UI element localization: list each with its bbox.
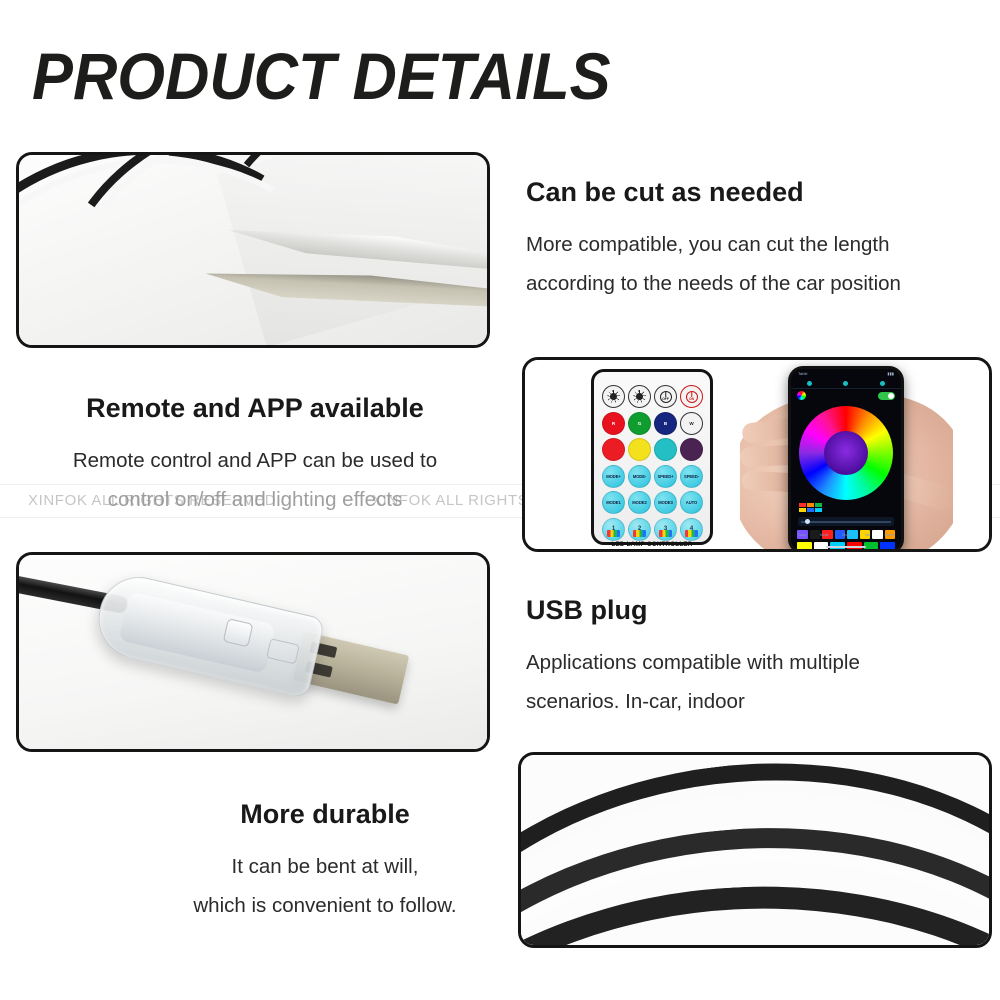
rgb-value-swatches xyxy=(799,503,825,512)
body-line-2-more-durable: which is convenient to follow. xyxy=(160,887,490,926)
brightness-down-icon xyxy=(633,390,646,403)
remote-button-mode-up-label: MODE+ xyxy=(606,474,621,479)
remote-button-power-on[interactable]: ON xyxy=(680,385,703,408)
usb-transparent-housing xyxy=(91,569,326,699)
remote-and-phone-app-photo: OFF ON R G B W xyxy=(525,360,989,549)
remote-button-speed-down[interactable]: SPEED- xyxy=(680,465,703,488)
body-line-1-more-durable: It can be bent at will, xyxy=(160,848,490,887)
body-line-2-usb-plug: scenarios. In-car, indoor xyxy=(526,683,976,722)
power-on-icon: ON xyxy=(686,391,698,403)
remote-button-speed-up-label: SPEED+ xyxy=(657,474,673,479)
preset-swatch-6[interactable] xyxy=(880,542,895,552)
usb-power-button xyxy=(223,618,254,647)
remote-button-mode2-label: MODE2 xyxy=(632,500,646,505)
rgb-swatch-r xyxy=(799,503,806,507)
remote-button-preset-4[interactable]: 4 xyxy=(680,518,703,541)
phone-status-bar: Tahiti ▮▮▮ xyxy=(791,369,901,378)
nav-item-music[interactable]: Music xyxy=(842,533,851,537)
remote-button-color-cyan[interactable] xyxy=(654,438,677,461)
ir-remote-control[interactable]: OFF ON R G B W xyxy=(591,369,713,545)
preset-swatch-1[interactable] xyxy=(797,542,812,552)
heading-more-durable: More durable xyxy=(160,798,490,830)
remote-button-color-purple[interactable] xyxy=(680,438,703,461)
remote-button-brightness-down[interactable] xyxy=(628,385,651,408)
rgb-swatch-c xyxy=(815,508,822,512)
product-details-page: PRODUCT DETAILS Can be cut as needed Mor… xyxy=(0,0,1000,1000)
rgb-color-wheel[interactable] xyxy=(799,406,893,500)
remote-button-preset-1[interactable]: 1 xyxy=(602,518,625,541)
hand-holding-phone: Tahiti ▮▮▮ xyxy=(740,360,953,552)
heading-cut-as-needed: Can be cut as needed xyxy=(526,176,976,208)
remote-button-preset-3[interactable]: 3 xyxy=(654,518,677,541)
nav-item-mode[interactable]: Mode xyxy=(820,533,828,537)
remote-button-grid: OFF ON R G B W xyxy=(602,385,702,541)
power-toggle[interactable] xyxy=(878,392,895,400)
remote-button-preset-1-label: 1 xyxy=(612,526,615,532)
remote-button-blue-label: B xyxy=(664,421,667,426)
remote-button-preset-2[interactable]: 2 xyxy=(628,518,651,541)
remote-button-power-off[interactable]: OFF xyxy=(654,385,677,408)
remote-button-white[interactable]: W xyxy=(680,412,703,435)
bent-led-strip-photo xyxy=(521,755,989,945)
brightness-slider[interactable] xyxy=(798,517,894,526)
page-title: PRODUCT DETAILS xyxy=(32,38,611,114)
remote-button-white-label: W xyxy=(689,421,693,426)
remote-button-mode3-label: MODE3 xyxy=(658,500,672,505)
power-off-label: OFF xyxy=(661,397,671,401)
remote-button-mode-up[interactable]: MODE+ xyxy=(602,465,625,488)
text-block-usb-plug: USB plug Applications compatible with mu… xyxy=(526,594,976,722)
remote-button-auto[interactable]: AUTO xyxy=(680,491,703,514)
remote-button-mode1-label: MODE1 xyxy=(606,500,620,505)
text-block-more-durable: More durable It can be bent at will, whi… xyxy=(160,798,490,926)
remote-button-mode1[interactable]: MODE1 xyxy=(602,491,625,514)
remote-button-color-red[interactable] xyxy=(602,438,625,461)
text-block-cut-as-needed: Can be cut as needed More compatible, yo… xyxy=(526,176,976,304)
nav-item-color[interactable]: Color xyxy=(798,533,806,537)
body-line-2-cut-as-needed: according to the needs of the car positi… xyxy=(526,265,976,304)
app-controls-row xyxy=(791,389,901,402)
brightness-up-icon xyxy=(607,390,620,403)
image-panel-remote-and-app: OFF ON R G B W xyxy=(522,357,992,552)
phone-status-label: Tahiti xyxy=(798,371,807,376)
power-off-icon: OFF xyxy=(660,391,672,403)
slider-track xyxy=(801,521,891,523)
body-line-1-remote-and-app: Remote control and APP can be used to xyxy=(40,442,470,481)
app-toolbar xyxy=(791,378,901,389)
power-on-label: ON xyxy=(687,397,697,401)
text-block-remote-and-app: Remote and APP available Remote control … xyxy=(40,392,470,520)
remote-button-red-label: R xyxy=(612,421,615,426)
usb-plug-photo xyxy=(19,555,487,749)
image-panel-usb-plug xyxy=(16,552,490,752)
image-panel-more-durable xyxy=(518,752,992,948)
body-line-2-remote-and-app: control on/off and lighting effects xyxy=(40,481,470,520)
body-line-1-cut-as-needed: More compatible, you can cut the length xyxy=(526,226,976,265)
remote-button-red[interactable]: R xyxy=(602,412,625,435)
body-line-1-usb-plug: Applications compatible with multiple xyxy=(526,644,976,683)
remote-button-mode-down-label: MODE- xyxy=(633,474,646,479)
toolbar-icon-2[interactable] xyxy=(843,381,848,386)
toolbar-icon-3[interactable] xyxy=(880,381,885,386)
rgb-swatch-b xyxy=(807,508,814,512)
led-strip-scissors-photo xyxy=(19,155,487,345)
nav-item-mic[interactable]: Mic xyxy=(865,533,870,537)
remote-product-label: LED LAMP CONTROLLER xyxy=(612,541,693,550)
remote-button-mode3[interactable]: MODE3 xyxy=(654,491,677,514)
remote-button-color-yellow[interactable] xyxy=(628,438,651,461)
remote-button-mode-down[interactable]: MODE- xyxy=(628,465,651,488)
remote-button-green[interactable]: G xyxy=(628,412,651,435)
remote-button-preset-4-label: 4 xyxy=(690,526,693,532)
remote-button-brightness-up[interactable] xyxy=(602,385,625,408)
phone-status-icons: ▮▮▮ xyxy=(887,371,894,376)
rgb-swatch-o xyxy=(807,503,814,507)
usb-symbol-icon xyxy=(266,638,300,664)
app-bottom-nav: Color Mode Music Mic Scene xyxy=(791,527,901,543)
image-panel-cut-as-needed xyxy=(16,152,490,348)
remote-button-speed-down-label: SPEED- xyxy=(684,474,699,479)
heading-remote-and-app: Remote and APP available xyxy=(40,392,470,424)
remote-button-auto-label: AUTO xyxy=(686,500,697,505)
rgb-swatch-g xyxy=(815,503,822,507)
remote-button-green-label: G xyxy=(638,421,641,426)
heading-usb-plug: USB plug xyxy=(526,594,976,626)
toolbar-icon-1[interactable] xyxy=(807,381,812,386)
remote-button-preset-3-label: 3 xyxy=(664,526,667,532)
remote-button-speed-up[interactable]: SPEED+ xyxy=(654,465,677,488)
remote-button-blue[interactable]: B xyxy=(654,412,677,435)
remote-button-preset-2-label: 2 xyxy=(638,526,641,532)
nav-item-scene[interactable]: Scene xyxy=(884,533,894,537)
remote-button-mode2[interactable]: MODE2 xyxy=(628,491,651,514)
rgb-swatch-y xyxy=(799,508,806,512)
smartphone[interactable]: Tahiti ▮▮▮ xyxy=(788,366,904,552)
color-wheel-mini-icon[interactable] xyxy=(797,391,806,400)
